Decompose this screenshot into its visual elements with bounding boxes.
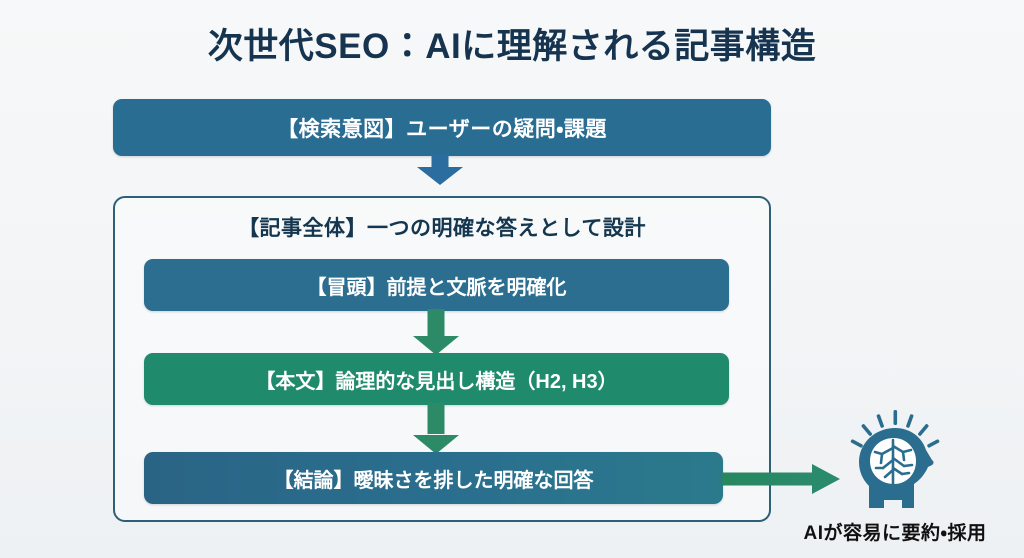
arrow-shaft	[428, 309, 445, 336]
section-box-conclusion: 【結論】曖昧さを排した明確な回答	[144, 452, 723, 504]
article-container-heading: 【記事全体】一つの明確な答えとして設計	[115, 212, 769, 242]
ai-outcome-block: AIが容易に要約・採用	[770, 408, 1020, 545]
section-box-intro: 【冒頭】前提と文脈を明確化	[144, 259, 729, 311]
arrow-down-icon-intent-to-article	[417, 154, 463, 184]
ai-outcome-caption: AIが容易に要約・採用	[770, 518, 1020, 545]
slide-canvas: 次世代SEO：AIに理解される記事構造 【検索意図】ユーザーの疑問・課題 【記事…	[0, 0, 1024, 558]
page-title: 次世代SEO：AIに理解される記事構造	[0, 26, 1024, 68]
section-box-body: 【本文】論理的な見出し構造（H2, H3）	[144, 353, 729, 405]
arrow-down-icon-intro-to-body	[413, 309, 459, 354]
arrow-head	[417, 167, 463, 185]
ai-brain-head-icon	[840, 408, 950, 516]
intent-box: 【検索意図】ユーザーの疑問・課題	[113, 99, 771, 156]
arrow-shaft	[428, 403, 445, 434]
arrow-down-icon-body-to-conclusion	[413, 403, 459, 453]
